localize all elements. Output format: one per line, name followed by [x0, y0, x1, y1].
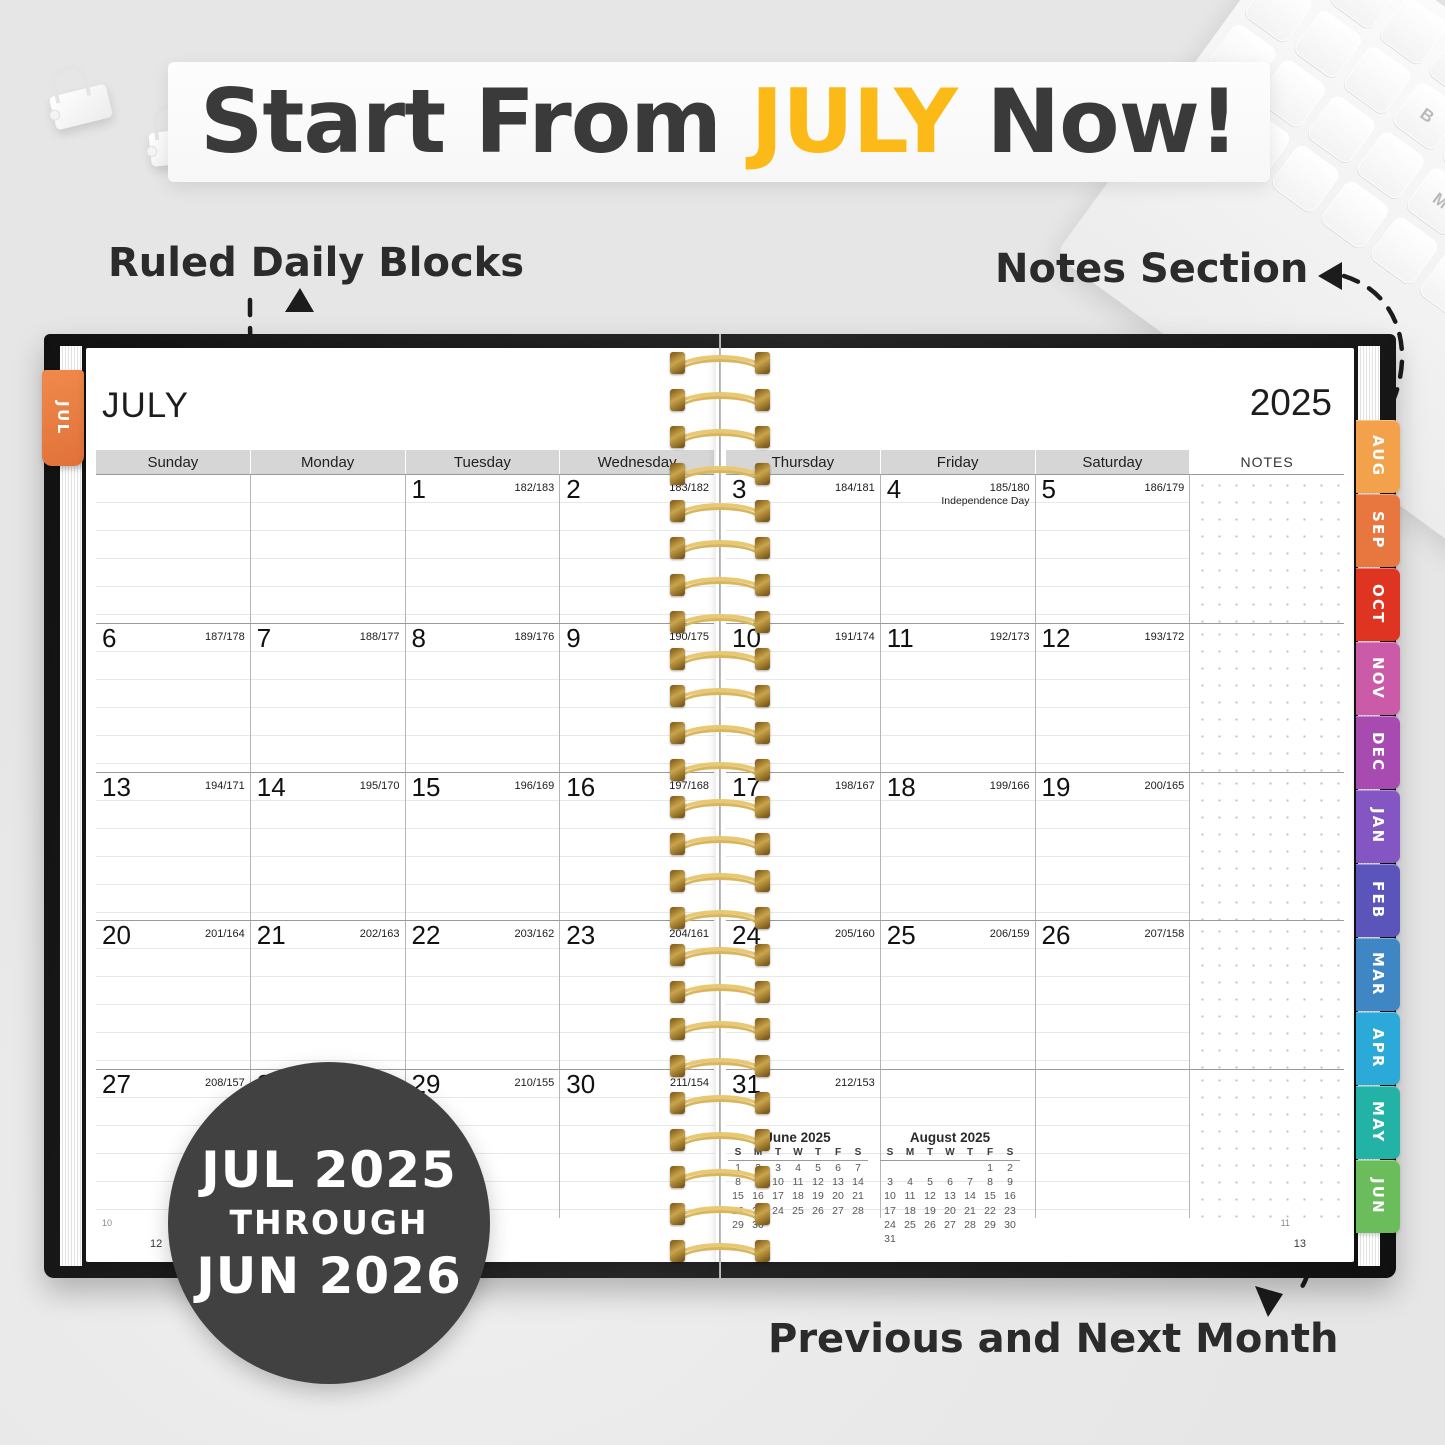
day-number: 2 [566, 476, 580, 502]
annotation-ruled-daily-blocks: Ruled Daily Blocks [108, 240, 524, 286]
mini-calendar-day: 26 [808, 1204, 828, 1218]
calendar-day-cell[interactable]: 14195/170 [251, 773, 406, 921]
ruled-lines [251, 475, 405, 623]
dow-tuesday: Tuesday [406, 450, 561, 474]
ruled-lines [251, 624, 405, 772]
day-number: 12 [1042, 625, 1071, 651]
page-number-left-large: 12 [150, 1238, 162, 1250]
day-number: 5 [1042, 476, 1056, 502]
mini-calendar-day [940, 1232, 960, 1246]
calendar-week-row: 6187/1787188/1778189/1769190/175 [96, 623, 714, 772]
spiral-coil [672, 1166, 768, 1190]
spiral-coil [672, 1092, 768, 1116]
calendar-day-cell[interactable]: 25206/159 [881, 921, 1036, 1069]
mini-calendar-day: 26 [920, 1218, 940, 1232]
day-number: 19 [1042, 774, 1071, 800]
month-tab-oct[interactable]: OCT [1356, 568, 1400, 641]
mini-calendar-day [900, 1232, 920, 1246]
mini-calendar-dow: T [920, 1147, 940, 1161]
notes-dot-grid-cell[interactable] [1190, 624, 1344, 772]
spiral-coil [672, 796, 768, 820]
mini-calendar-day: 20 [940, 1204, 960, 1218]
month-index-tabs: AUGSEPOCTNOVDECJANFEBMARAPRMAYJUN [1356, 420, 1400, 1234]
spiral-coil [672, 574, 768, 598]
mini-calendar-day: 19 [808, 1189, 828, 1203]
headline-banner: Start From JULY Now! [168, 62, 1270, 182]
day-of-year-counter: 184/181 [835, 482, 875, 495]
mini-calendar-day: 2 [1000, 1161, 1020, 1176]
calendar-week-row: 10191/17411192/17312193/172 [726, 623, 1344, 772]
mini-calendar-day [960, 1161, 980, 1176]
mini-calendar-day: 6 [940, 1175, 960, 1189]
day-of-week-header-row-left: Sunday Monday Tuesday Wednesday [96, 450, 714, 474]
day-of-year-counter: 202/163 [360, 928, 400, 941]
spiral-coil [672, 759, 768, 783]
mini-calendar-day: 27 [940, 1218, 960, 1232]
mini-calendar-day: 19 [920, 1204, 940, 1218]
day-number: 11 [887, 625, 914, 651]
day-of-year-counter: 199/166 [990, 780, 1030, 793]
dow-friday: Friday [881, 450, 1036, 474]
calendar-weeks-right: 3184/1814185/180Independence Day5186/179… [726, 474, 1344, 1218]
day-of-year-counter: 196/169 [514, 780, 554, 793]
mini-calendar-day: 8 [980, 1175, 1000, 1189]
mini-calendar-day: 21 [960, 1204, 980, 1218]
spiral-coil [672, 685, 768, 709]
mini-calendar-dow: M [900, 1147, 920, 1161]
month-tab-label: JAN [1369, 808, 1387, 844]
mini-calendar-row: 12 [880, 1161, 1020, 1176]
page-number-left-small: 10 [102, 1218, 112, 1228]
month-tab-label: MAR [1369, 952, 1387, 997]
ruled-lines [1036, 475, 1190, 623]
calendar-week-row: 24205/16025206/15926207/158 [726, 920, 1344, 1069]
mini-calendar-dow: F [980, 1147, 1000, 1161]
mini-calendar-dow: F [828, 1147, 848, 1161]
notes-dot-grid [1194, 923, 1340, 1069]
badge-line-1: JUL 2025 [201, 1142, 457, 1198]
planner-page-right: 2025 Thursday Friday Saturday NOTES 3184… [716, 348, 1354, 1262]
ruled-lines [406, 475, 560, 623]
day-of-year-counter: 203/162 [514, 928, 554, 941]
day-of-year-counter: 192/173 [990, 631, 1030, 644]
day-of-year-counter: 189/176 [514, 631, 554, 644]
mini-calendar-day: 15 [980, 1189, 1000, 1203]
calendar-week-row: 17198/16718199/16619200/165 [726, 772, 1344, 921]
holiday-label: Independence Day [941, 495, 1029, 507]
mini-calendar-row: 10111213141516 [880, 1189, 1020, 1203]
day-number: 30 [566, 1071, 595, 1097]
mini-calendar-title: August 2025 [880, 1130, 1020, 1145]
day-number: 16 [566, 774, 595, 800]
month-tab-label: FEB [1369, 881, 1387, 920]
spiral-coil [672, 611, 768, 635]
month-tab-jun[interactable]: JUN [1356, 1160, 1400, 1233]
mini-calendar-day [828, 1218, 848, 1232]
day-number: 13 [102, 774, 131, 800]
mini-calendar-row: 17181920212223 [880, 1204, 1020, 1218]
spiral-coil [672, 1240, 768, 1264]
page-number-right-small: 11 [1281, 1218, 1290, 1228]
calendar-week-row: 1182/1832183/182 [96, 474, 714, 623]
spiral-coil [672, 907, 768, 931]
day-number: 8 [412, 625, 426, 651]
month-tab-aug[interactable]: AUG [1356, 420, 1400, 493]
mini-calendars-container: June 2025SMTWTFS123456789101112131415161… [722, 1130, 1354, 1256]
month-tab-label: DEC [1369, 732, 1387, 772]
dow-sunday: Sunday [96, 450, 251, 474]
mini-calendar-day [920, 1232, 940, 1246]
calendar-day-cell[interactable]: 20201/164 [96, 921, 251, 1069]
day-number: 26 [1042, 922, 1071, 948]
product-image-canvas: H B N M [0, 0, 1445, 1445]
calendar-day-cell[interactable]: 13194/171 [96, 773, 251, 921]
mini-calendar-day: 31 [880, 1232, 900, 1246]
mini-calendar-dow: W [940, 1147, 960, 1161]
planner-page-right-inner: 2025 Thursday Friday Saturday NOTES 3184… [716, 348, 1354, 1262]
mini-calendar-day [1000, 1232, 1020, 1246]
mini-calendar-day: 16 [748, 1189, 768, 1203]
headline-highlight: JULY [751, 70, 957, 173]
day-of-year-counter: 211/154 [670, 1077, 709, 1090]
calendar-day-cell[interactable] [96, 475, 251, 623]
calendar-day-cell[interactable]: 22203/162 [406, 921, 561, 1069]
mini-calendar: August 2025SMTWTFS1234567891011121314151… [874, 1130, 1026, 1256]
day-number: 6 [102, 625, 116, 651]
spiral-coil [672, 537, 768, 561]
calendar-day-cell[interactable]: 7188/177 [251, 624, 406, 772]
spiral-coil [672, 870, 768, 894]
mini-calendar-day: 22 [980, 1204, 1000, 1218]
mini-calendar-day: 1 [980, 1161, 1000, 1176]
date-range-badge: JUL 2025 THROUGH JUN 2026 [168, 1062, 490, 1384]
month-tab-label: JUN [1369, 1178, 1387, 1215]
dow-monday: Monday [251, 450, 406, 474]
day-of-year-counter: 195/170 [360, 780, 400, 793]
mini-calendar-day: 10 [768, 1175, 788, 1189]
mini-calendar-day: 25 [900, 1218, 920, 1232]
mini-calendar-day: 25 [788, 1204, 808, 1218]
day-of-year-counter: 200/165 [1144, 780, 1184, 793]
mini-calendar-day: 3 [880, 1175, 900, 1189]
notes-dot-grid [1194, 626, 1340, 772]
calendar-week-row: 20201/16421202/16322203/16223204/161 [96, 920, 714, 1069]
day-of-year-counter: 201/164 [205, 928, 245, 941]
dow-saturday: Saturday [1036, 450, 1191, 474]
month-tab-feb[interactable]: FEB [1356, 864, 1400, 937]
spiral-coil [672, 389, 768, 413]
calendar-day-cell[interactable]: 11192/173 [881, 624, 1036, 772]
day-of-week-header-row-right: Thursday Friday Saturday NOTES [726, 450, 1344, 474]
mini-calendar-dow: S [880, 1147, 900, 1161]
day-of-year-counter: 210/155 [514, 1077, 554, 1090]
notes-dot-grid-cell[interactable] [1190, 475, 1344, 623]
day-number: 1 [412, 476, 426, 502]
mini-calendar-day: 21 [848, 1189, 868, 1203]
mini-calendar-day [848, 1218, 868, 1232]
calendar-day-cell[interactable] [251, 475, 406, 623]
month-tab-apr[interactable]: APR [1356, 1012, 1400, 1085]
day-number: 9 [566, 625, 580, 651]
mini-calendar-day: 30 [1000, 1218, 1020, 1232]
month-tab-label: AUG [1369, 435, 1387, 477]
day-of-year-counter: 207/158 [1144, 928, 1184, 941]
mini-calendar-day: 17 [768, 1189, 788, 1203]
notes-dot-grid [1194, 775, 1340, 921]
month-tab-label: NOV [1369, 657, 1387, 700]
spiral-coil [672, 500, 768, 524]
day-number: 7 [257, 625, 271, 651]
mini-calendar-day [900, 1161, 920, 1176]
year-title: 2025 [1250, 382, 1332, 424]
mini-calendar-day: 17 [880, 1204, 900, 1218]
ruled-lines [96, 475, 250, 623]
month-title: JULY [102, 386, 189, 426]
spiral-coil [672, 1018, 768, 1042]
spiral-coil [672, 648, 768, 672]
spiral-coil [672, 1129, 768, 1153]
mini-calendar-dow: S [1000, 1147, 1020, 1161]
day-number: 25 [887, 922, 916, 948]
mini-calendar-day: 7 [848, 1161, 868, 1176]
day-of-year-counter: 198/167 [835, 780, 875, 793]
mini-calendar-day: 12 [920, 1189, 940, 1203]
mini-calendar-day [920, 1161, 940, 1176]
mini-calendar-day [808, 1218, 828, 1232]
calendar-grid-right: Thursday Friday Saturday NOTES 3184/1814… [726, 450, 1344, 1218]
month-tab-label: OCT [1369, 584, 1387, 625]
day-number: 18 [887, 774, 916, 800]
badge-line-3: JUN 2026 [196, 1248, 462, 1304]
month-tab-nov[interactable]: NOV [1356, 642, 1400, 715]
calendar-week-row: 3184/1814185/180Independence Day5186/179 [726, 474, 1344, 623]
spiral-coil [672, 981, 768, 1005]
mini-calendar-day [940, 1161, 960, 1176]
mini-calendar-day [880, 1161, 900, 1176]
mini-calendar-day [960, 1232, 980, 1246]
mini-calendar-day: 14 [960, 1189, 980, 1203]
mini-calendar-day: 18 [788, 1189, 808, 1203]
mini-calendar-day: 28 [960, 1218, 980, 1232]
calendar-day-cell[interactable]: 18199/166 [881, 773, 1036, 921]
mini-calendar-dow: T [808, 1147, 828, 1161]
day-of-year-counter: 193/172 [1144, 631, 1184, 644]
day-of-year-counter: 188/177 [360, 631, 400, 644]
notes-dot-grid-cell[interactable] [1190, 773, 1344, 921]
month-tab-jan[interactable]: JAN [1356, 790, 1400, 863]
mini-calendar-row: 24252627282930 [880, 1218, 1020, 1232]
day-number: 20 [102, 922, 131, 948]
headline-pre: Start From [200, 70, 751, 173]
headline-post: Now! [957, 70, 1238, 173]
day-number: 27 [102, 1071, 131, 1097]
mini-calendar-day: 24 [768, 1204, 788, 1218]
day-number: 22 [412, 922, 441, 948]
day-of-year-counter: 187/178 [205, 631, 245, 644]
mini-calendar-day: 4 [788, 1161, 808, 1176]
calendar-day-cell[interactable]: 6187/178 [96, 624, 251, 772]
day-of-year-counter: 186/179 [1144, 482, 1184, 495]
spiral-coil [672, 426, 768, 450]
calendar-day-cell[interactable]: 26207/158 [1036, 921, 1191, 1069]
spiral-coil [672, 463, 768, 487]
month-tab-jul[interactable]: JUL [42, 370, 84, 466]
day-of-year-counter: 208/157 [205, 1077, 245, 1090]
mini-calendar-day: 15 [728, 1189, 748, 1203]
day-of-year-counter: 194/171 [205, 780, 245, 793]
annotation-previous-next-month: Previous and Next Month [768, 1316, 1339, 1362]
mini-calendar-day: 13 [828, 1175, 848, 1189]
mini-calendar-day: 7 [960, 1175, 980, 1189]
spiral-coil [672, 1055, 768, 1079]
mini-calendar-dow: S [848, 1147, 868, 1161]
mini-calendar-day: 10 [880, 1189, 900, 1203]
ruled-lines [96, 624, 250, 772]
month-tab-jul-label: JUL [54, 401, 72, 436]
mini-calendar-day: 29 [980, 1218, 1000, 1232]
mini-calendar-day: 3 [768, 1161, 788, 1176]
notes-section-header: NOTES [1190, 450, 1344, 474]
page-stack-left-edge [60, 346, 82, 1266]
mini-calendar-day: 24 [880, 1218, 900, 1232]
mini-calendar-dow: W [788, 1147, 808, 1161]
mini-calendar-day: 5 [920, 1175, 940, 1189]
mini-calendar-day: 27 [828, 1204, 848, 1218]
mini-calendar-day: 18 [900, 1204, 920, 1218]
mini-calendar-day: 11 [900, 1189, 920, 1203]
mini-calendar-dow: T [960, 1147, 980, 1161]
day-number: 23 [566, 922, 595, 948]
calendar-day-cell[interactable]: 5186/179 [1036, 475, 1191, 623]
mini-calendar-day [788, 1218, 808, 1232]
spiral-coil [672, 944, 768, 968]
spiral-coil [672, 833, 768, 857]
mini-calendar-day: 28 [848, 1204, 868, 1218]
mini-calendar-day: 16 [1000, 1189, 1020, 1203]
calendar-day-cell[interactable]: 8189/176 [406, 624, 561, 772]
page-title: Start From JULY Now! [200, 78, 1238, 166]
mini-calendar-dow: T [768, 1147, 788, 1161]
spiral-coil [672, 722, 768, 746]
day-of-year-counter: 212/153 [835, 1077, 875, 1090]
ruled-lines [406, 624, 560, 772]
day-number: 21 [257, 922, 286, 948]
calendar-day-cell[interactable]: 15196/169 [406, 773, 561, 921]
mini-calendar-row: 31 [880, 1232, 1020, 1246]
calendar-day-cell[interactable]: 12193/172 [1036, 624, 1191, 772]
month-tab-label: APR [1369, 1028, 1387, 1069]
notes-dot-grid-cell[interactable] [1190, 921, 1344, 1069]
mini-calendar-day: 9 [1000, 1175, 1020, 1189]
annotation-notes-section: Notes Section [995, 246, 1308, 292]
spiral-coil [672, 352, 768, 376]
calendar-day-cell[interactable]: 19200/165 [1036, 773, 1191, 921]
day-of-year-counter: 185/180Independence Day [941, 482, 1029, 507]
month-tab-mar[interactable]: MAR [1356, 938, 1400, 1011]
day-number: 4 [887, 476, 901, 502]
mini-calendar-day: 14 [848, 1175, 868, 1189]
mini-calendar-row: 15161718192021 [728, 1189, 868, 1203]
day-of-year-counter: 205/160 [835, 928, 875, 941]
mini-calendar-day: 4 [900, 1175, 920, 1189]
mini-calendar-day: 13 [940, 1189, 960, 1203]
notes-dot-grid [1194, 477, 1340, 623]
mini-calendar-day: 12 [808, 1175, 828, 1189]
month-tab-may[interactable]: MAY [1356, 1086, 1400, 1159]
calendar-week-row: 13194/17114195/17015196/16916197/168 [96, 772, 714, 921]
calendar-day-cell[interactable]: 21202/163 [251, 921, 406, 1069]
day-number: 15 [412, 774, 441, 800]
calendar-day-cell[interactable]: 1182/183 [406, 475, 561, 623]
mini-calendar-day: 20 [828, 1189, 848, 1203]
calendar-day-cell[interactable]: 4185/180Independence Day [881, 475, 1036, 623]
month-tab-label: SEP [1369, 511, 1387, 550]
day-of-year-counter: 182/183 [514, 482, 554, 495]
mini-calendar-day: 23 [1000, 1204, 1020, 1218]
mini-calendar-day: 5 [808, 1161, 828, 1176]
spiral-coil [672, 1203, 768, 1227]
day-number: 14 [257, 774, 286, 800]
month-tab-dec[interactable]: DEC [1356, 716, 1400, 789]
mini-calendar-day: 11 [788, 1175, 808, 1189]
day-of-year-counter: 206/159 [990, 928, 1030, 941]
mini-calendar-row: 3456789 [880, 1175, 1020, 1189]
day-of-year-counter: 191/174 [835, 631, 875, 644]
badge-line-2: THROUGH [229, 1198, 428, 1248]
page-number-right-large: 13 [1294, 1238, 1306, 1250]
mini-calendar-day [980, 1232, 1000, 1246]
mini-calendar-day: 6 [828, 1161, 848, 1176]
month-tab-label: MAY [1369, 1101, 1387, 1144]
month-tab-sep[interactable]: SEP [1356, 494, 1400, 567]
mini-calendar-day [768, 1218, 788, 1232]
